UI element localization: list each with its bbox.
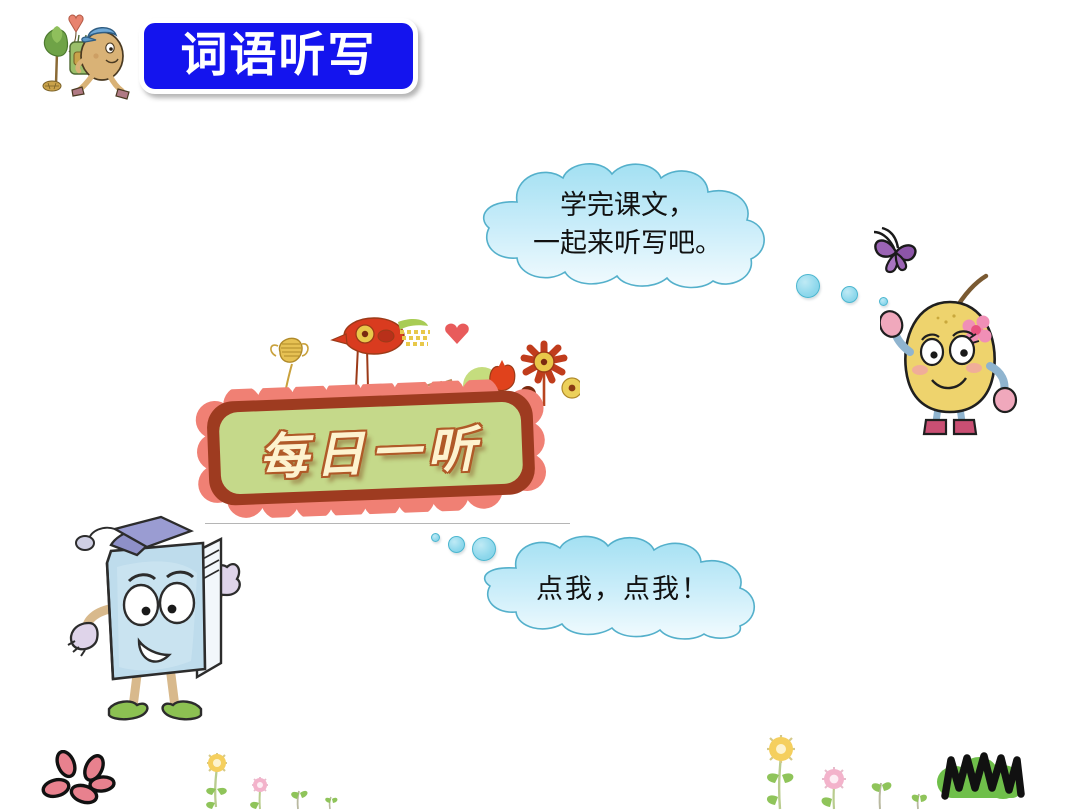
sprout-icon-2 [325,797,337,809]
pear-girl-character [880,260,1020,445]
title-banner[interactable]: 词语听写 [139,18,418,94]
pink-daisy-icon [822,767,846,809]
pink-five-petal-flower-icon [40,750,118,808]
sprout-icon [872,782,892,809]
cloud-shape [458,532,788,640]
green-grass-scribble-icon [935,738,1030,806]
red-bird-icon [332,318,430,388]
yellow-dot-flower-icon [562,378,580,398]
speech-bubble-top: 学完课文， 一起来听写吧。 [455,158,800,290]
thought-bubble-large [796,274,820,298]
yellow-daisy-icon [767,735,795,809]
book-character [45,495,265,740]
slide-canvas: 词语听写 [0,0,1080,810]
cloud-shape [455,158,800,290]
page-title: 词语听写 [181,33,377,80]
walking-bean-with-backpack-icon [26,6,131,104]
sprout-icon [291,791,307,809]
speech-bubble-bottom[interactable]: 点我，点我！ [458,532,788,640]
thought-bubble-medium [841,286,858,303]
pink-daisy-icon [250,777,268,809]
heart-icon [445,324,469,344]
sprout-icon-2 [912,794,927,809]
bottom-flowers-left [182,745,342,810]
yellow-daisy-icon [206,753,227,809]
bottom-flowers-right [740,727,940,810]
thought-bubble-small-2 [431,533,440,542]
